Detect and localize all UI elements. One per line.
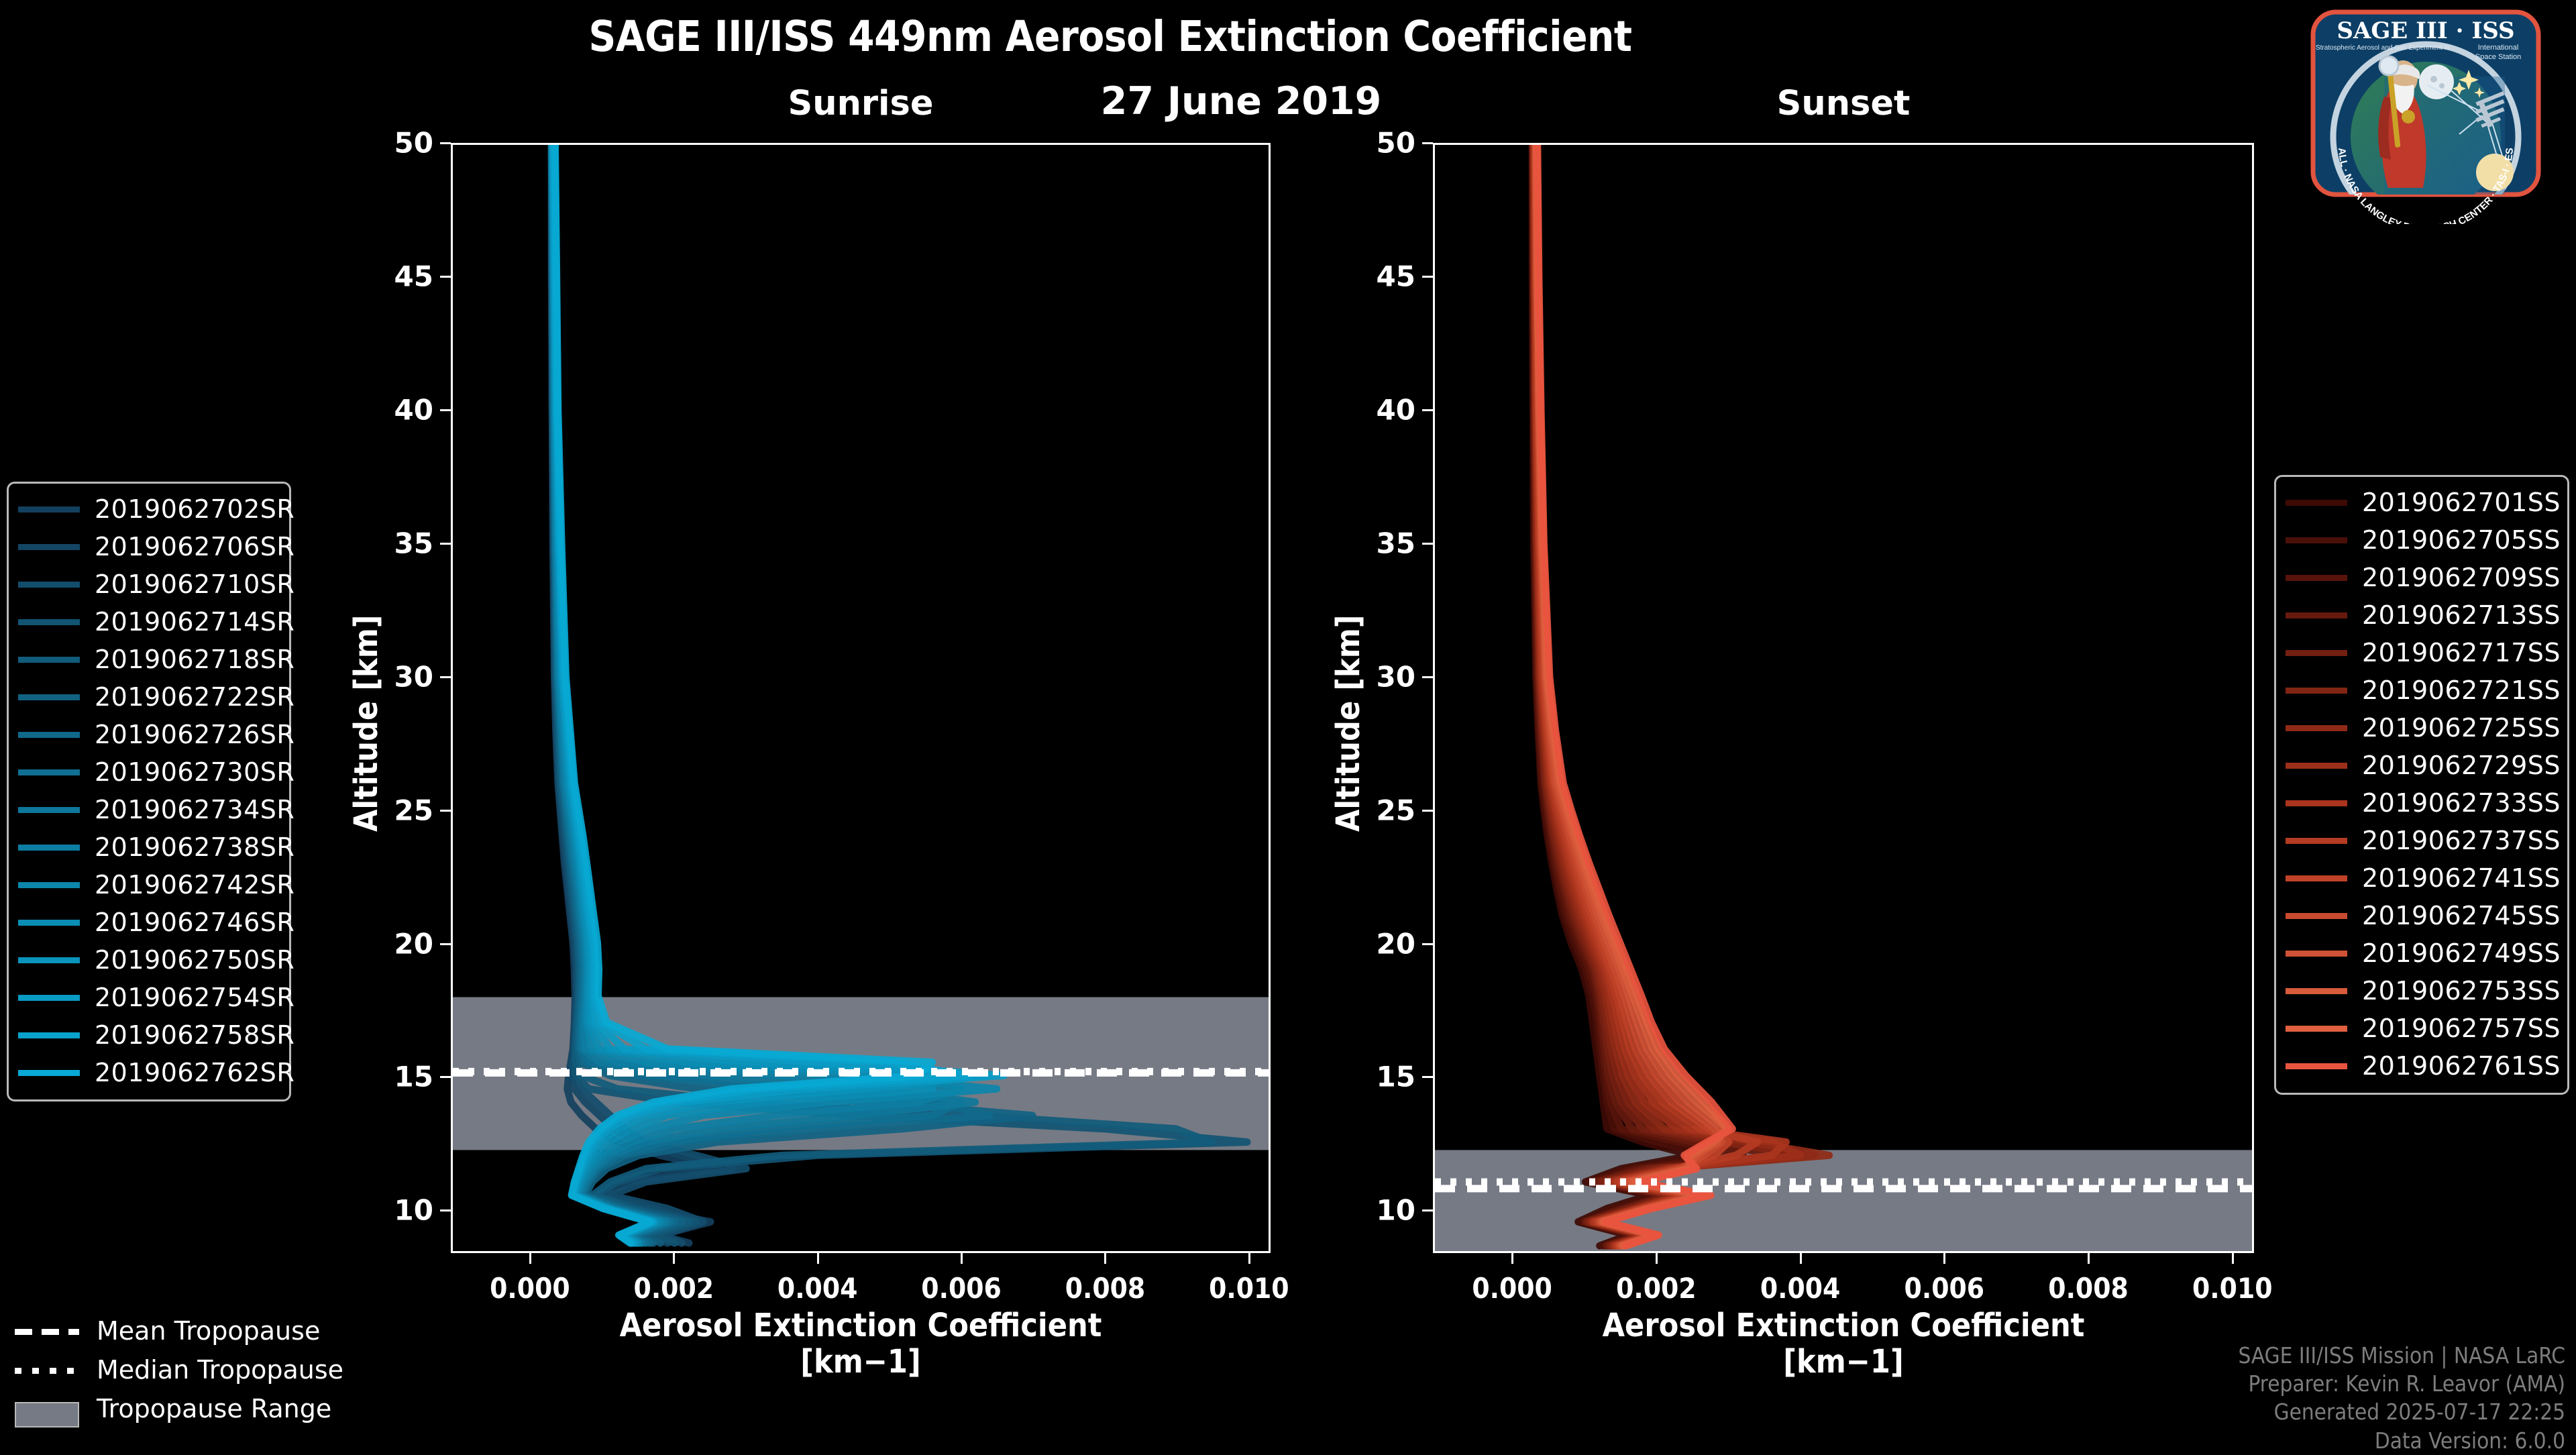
y-tick-label: 40 <box>370 393 451 426</box>
x-tick-mark <box>1656 1253 1658 1264</box>
y-tick-mark <box>440 409 451 411</box>
x-tick-label: 0.002 <box>634 1272 714 1305</box>
legend-item[interactable]: 2019062710SR <box>18 565 278 603</box>
legend-item[interactable]: 2019062729SS <box>2286 747 2557 784</box>
y-axis-title-sunset: Altitude [km] <box>1330 615 1367 832</box>
y-tick-label: 20 <box>1352 927 1433 960</box>
legend-color-swatch <box>18 995 80 1001</box>
x-tick-mark <box>1104 1253 1106 1264</box>
sage-iii-iss-mission-patch-logo: SAGE III · ISS Stratospheric Aerosol and… <box>2284 3 2568 224</box>
legend-item[interactable]: 2019062737SS <box>2286 822 2557 859</box>
legend-color-swatch <box>18 582 80 588</box>
tropopause-line-swatch <box>15 1329 79 1335</box>
y-tick-mark <box>1422 543 1433 545</box>
y-tick-label: 35 <box>370 527 451 559</box>
tropopause-legend-label: Mean Tropopause <box>97 1316 320 1346</box>
legend-item[interactable]: 2019062742SR <box>18 866 278 904</box>
legend-item-label: 2019062714SR <box>95 607 294 637</box>
legend-color-swatch <box>2286 1026 2347 1032</box>
legend-color-swatch <box>2286 988 2347 994</box>
legend-item[interactable]: 2019062717SS <box>2286 634 2557 671</box>
credits-line: Preparer: Kevin R. Leavor (AMA) <box>2238 1370 2565 1398</box>
y-tick-mark <box>1422 276 1433 278</box>
legend-item[interactable]: 2019062722SR <box>18 678 278 716</box>
legend-item[interactable]: 2019062750SR <box>18 941 278 979</box>
legend-item[interactable]: 2019062714SR <box>18 603 278 641</box>
x-tick-mark <box>2088 1253 2090 1264</box>
legend-tropopause: Mean TropopauseMedian TropopauseTropopau… <box>15 1311 343 1428</box>
legend-item-label: 2019062746SR <box>95 908 294 937</box>
y-tick-mark <box>440 543 451 545</box>
x-axis-title-sunset: Aerosol Extinction Coefficient [km−1] <box>1433 1308 2254 1381</box>
legend-item[interactable]: 2019062721SS <box>2286 671 2557 709</box>
y-tick-mark <box>1422 943 1433 945</box>
legend-item[interactable]: 2019062709SS <box>2286 559 2557 596</box>
legend-item-label: 2019062762SR <box>95 1058 294 1087</box>
legend-color-swatch <box>2286 688 2347 694</box>
credits-block: SAGE III/ISS Mission | NASA LaRCPreparer… <box>2238 1342 2565 1455</box>
legend-item-label: 2019062753SS <box>2362 976 2561 1006</box>
legend-item[interactable]: 2019062745SS <box>2286 897 2557 934</box>
legend-item-label: 2019062705SS <box>2362 525 2561 555</box>
tropopause-legend-item: Tropopause Range <box>15 1389 343 1428</box>
y-tick-mark <box>1422 142 1433 144</box>
legend-color-swatch <box>2286 725 2347 731</box>
legend-item-label: 2019062722SR <box>95 682 294 712</box>
y-tick-label: 45 <box>370 260 451 292</box>
x-tick-label: 0.002 <box>1616 1272 1697 1305</box>
legend-item[interactable]: 2019062762SR <box>18 1054 278 1091</box>
x-tick-mark <box>673 1253 675 1264</box>
legend-item-label: 2019062725SS <box>2362 713 2561 743</box>
legend-item[interactable]: 2019062701SS <box>2286 484 2557 521</box>
legend-item-label: 2019062761SS <box>2362 1051 2561 1081</box>
legend-item[interactable]: 2019062702SR <box>18 490 278 528</box>
legend-color-swatch <box>18 1032 80 1038</box>
tropopause-legend-item: Median Tropopause <box>15 1350 343 1389</box>
y-tick-label: 10 <box>1352 1194 1433 1227</box>
plot-panel-sunrise <box>451 143 1271 1253</box>
logo-subtitle-right-1: International <box>2478 44 2519 52</box>
tropopause-legend-key <box>15 1401 79 1417</box>
legend-color-swatch <box>2286 838 2347 844</box>
tropopause-range-swatch <box>15 1402 79 1427</box>
legend-item[interactable]: 2019062753SS <box>2286 972 2557 1010</box>
x-tick-mark <box>2232 1253 2234 1264</box>
tropopause-legend-label: Tropopause Range <box>97 1394 331 1423</box>
legend-item-label: 2019062713SS <box>2362 600 2561 630</box>
tropopause-legend-label: Median Tropopause <box>97 1355 343 1385</box>
legend-item-label: 2019062702SR <box>95 494 294 524</box>
plot-area-sunset <box>1435 145 2252 1251</box>
page-title: SAGE III/ISS 449nm Aerosol Extinction Co… <box>0 12 2220 61</box>
legend-color-swatch <box>2286 951 2347 957</box>
credits-line: SAGE III/ISS Mission | NASA LaRC <box>2238 1342 2565 1370</box>
panel-title-sunset: Sunset <box>1433 84 2254 123</box>
panel-title-sunrise: Sunrise <box>451 84 1271 123</box>
y-tick-label: 15 <box>370 1061 451 1093</box>
legend-item[interactable]: 2019062754SR <box>18 979 278 1016</box>
tropopause-legend-key <box>15 1362 79 1378</box>
plot-panel-sunset <box>1433 143 2254 1253</box>
legend-item[interactable]: 2019062738SR <box>18 828 278 866</box>
y-tick-label: 40 <box>1352 393 1433 426</box>
y-tick-mark <box>440 276 451 278</box>
legend-color-swatch <box>2286 650 2347 656</box>
y-tick-mark <box>440 1209 451 1211</box>
legend-color-swatch <box>18 544 80 550</box>
x-axis-title-line1: Aerosol Extinction Coefficient <box>451 1308 1271 1344</box>
x-tick-mark <box>1248 1253 1250 1264</box>
legend-item[interactable]: 2019062733SS <box>2286 784 2557 822</box>
tropopause-legend-key <box>15 1323 79 1339</box>
x-tick-label: 0.008 <box>1065 1272 1146 1305</box>
y-tick-mark <box>440 142 451 144</box>
legend-item-label: 2019062737SS <box>2362 826 2561 855</box>
x-tick-label: 0.010 <box>1209 1272 1289 1305</box>
legend-item-label: 2019062745SS <box>2362 901 2561 930</box>
legend-item-label: 2019062726SR <box>95 720 294 749</box>
legend-color-swatch <box>18 506 80 513</box>
legend-item[interactable]: 2019062725SS <box>2286 709 2557 747</box>
legend-color-swatch <box>18 1070 80 1076</box>
logo-subtitle-right-2: Space Station <box>2475 53 2522 61</box>
y-tick-mark <box>1422 409 1433 411</box>
y-tick-label: 35 <box>1352 527 1433 559</box>
legend-color-swatch <box>18 619 80 625</box>
legend-item-label: 2019062749SS <box>2362 938 2561 968</box>
legend-item[interactable]: 2019062746SR <box>18 904 278 941</box>
x-axis-title-line2: [km−1] <box>451 1344 1271 1381</box>
legend-color-swatch <box>2286 612 2347 618</box>
legend-item-label: 2019062701SS <box>2362 488 2561 517</box>
x-axis-sunset: 0.0000.0020.0040.0060.0080.010 <box>1433 1253 2254 1313</box>
y-tick-mark <box>440 676 451 678</box>
y-tick-label: 50 <box>1352 127 1433 160</box>
legend-item-label: 2019062733SS <box>2362 788 2561 818</box>
legend-item[interactable]: 2019062705SS <box>2286 521 2557 559</box>
y-tick-label: 45 <box>1352 260 1433 292</box>
legend-item-label: 2019062721SS <box>2362 676 2561 705</box>
x-tick-mark <box>1800 1253 1802 1264</box>
legend-item[interactable]: 2019062758SR <box>18 1016 278 1054</box>
legend-color-swatch <box>2286 500 2347 506</box>
legend-item-label: 2019062710SR <box>95 570 294 599</box>
legend-item[interactable]: 2019062761SS <box>2286 1047 2557 1085</box>
legend-color-swatch <box>18 657 80 663</box>
legend-color-swatch <box>18 732 80 738</box>
x-tick-label: 0.000 <box>1472 1272 1552 1305</box>
legend-item[interactable]: 2019062718SR <box>18 641 278 678</box>
credits-line: Generated 2025-07-17 22:25 <box>2238 1398 2565 1426</box>
x-tick-label: 0.008 <box>2048 1272 2129 1305</box>
legend-item[interactable]: 2019062730SR <box>18 753 278 791</box>
logo-title: SAGE III · ISS <box>2337 17 2514 44</box>
y-tick-mark <box>440 943 451 945</box>
credits-line: Data Version: 6.0.0 <box>2238 1427 2565 1455</box>
tropopause-range-band <box>1435 1150 2252 1251</box>
y-tick-mark <box>1422 1209 1433 1211</box>
plot-area-sunrise <box>453 145 1269 1251</box>
legend-color-swatch <box>18 694 80 700</box>
legend-color-swatch <box>2286 575 2347 581</box>
x-axis-title-sunrise: Aerosol Extinction Coefficient [km−1] <box>451 1308 1271 1381</box>
x-axis-title-line2: [km−1] <box>1433 1344 2254 1381</box>
legend-item-label: 2019062754SR <box>95 983 294 1012</box>
legend-item-label: 2019062718SR <box>95 645 294 674</box>
legend-item-label: 2019062730SR <box>95 757 294 787</box>
logo-subtitle-left: Stratospheric Aerosol and Gas Experiment… <box>2316 44 2450 52</box>
legend-color-swatch <box>2286 800 2347 806</box>
x-tick-label: 0.006 <box>1904 1272 1985 1305</box>
legend-item[interactable]: 2019062726SR <box>18 716 278 753</box>
y-axis-title-sunrise: Altitude [km] <box>347 615 385 832</box>
legend-item-label: 2019062742SR <box>95 870 294 900</box>
y-tick-label: 50 <box>370 127 451 160</box>
legend-item-label: 2019062758SR <box>95 1020 294 1050</box>
legend-item-label: 2019062706SR <box>95 532 294 561</box>
legend-sunrise[interactable]: 2019062702SR2019062706SR2019062710SR2019… <box>7 482 291 1101</box>
legend-item-label: 2019062734SR <box>95 795 294 824</box>
x-tick-mark <box>1511 1253 1513 1264</box>
legend-item[interactable]: 2019062713SS <box>2286 596 2557 634</box>
legend-item[interactable]: 2019062757SS <box>2286 1010 2557 1047</box>
y-tick-label: 10 <box>370 1194 451 1227</box>
legend-item-label: 2019062738SR <box>95 832 294 862</box>
legend-item-label: 2019062757SS <box>2362 1014 2561 1043</box>
x-axis-sunrise: 0.0000.0020.0040.0060.0080.010 <box>451 1253 1271 1313</box>
legend-item-label: 2019062717SS <box>2362 638 2561 667</box>
legend-color-swatch <box>2286 763 2347 769</box>
x-tick-label: 0.006 <box>921 1272 1002 1305</box>
x-axis-title-line1: Aerosol Extinction Coefficient <box>1433 1308 2254 1344</box>
y-tick-mark <box>440 810 451 812</box>
legend-item-label: 2019062750SR <box>95 945 294 975</box>
legend-color-swatch <box>18 920 80 926</box>
y-tick-mark <box>1422 810 1433 812</box>
x-tick-label: 0.010 <box>2192 1272 2273 1305</box>
legend-color-swatch <box>18 845 80 851</box>
x-tick-label: 0.004 <box>777 1272 858 1305</box>
data-series-line <box>1536 145 1758 1246</box>
y-tick-mark <box>1422 1076 1433 1078</box>
y-tick-mark <box>1422 676 1433 678</box>
legend-color-swatch <box>2286 913 2347 919</box>
x-tick-mark <box>817 1253 819 1264</box>
tropopause-legend-item: Mean Tropopause <box>15 1311 343 1350</box>
x-tick-mark <box>529 1253 531 1264</box>
x-tick-label: 0.004 <box>1760 1272 1841 1305</box>
legend-color-swatch <box>18 769 80 775</box>
legend-item[interactable]: 2019062749SS <box>2286 934 2557 972</box>
legend-color-swatch <box>18 957 80 963</box>
x-tick-mark <box>961 1253 963 1264</box>
legend-color-swatch <box>2286 875 2347 881</box>
legend-item[interactable]: 2019062734SR <box>18 791 278 828</box>
legend-color-swatch <box>18 807 80 813</box>
legend-item[interactable]: 2019062706SR <box>18 528 278 565</box>
y-tick-mark <box>440 1076 451 1078</box>
legend-color-swatch <box>2286 1063 2347 1069</box>
x-tick-mark <box>1943 1253 1945 1264</box>
y-tick-label: 20 <box>370 927 451 960</box>
legend-item[interactable]: 2019062741SS <box>2286 859 2557 897</box>
y-tick-label: 15 <box>1352 1061 1433 1093</box>
legend-item-label: 2019062709SS <box>2362 563 2561 592</box>
legend-sunset[interactable]: 2019062701SS2019062705SS2019062709SS2019… <box>2274 475 2569 1095</box>
legend-item-label: 2019062741SS <box>2362 863 2561 893</box>
legend-color-swatch <box>2286 537 2347 543</box>
legend-color-swatch <box>18 882 80 888</box>
legend-item-label: 2019062729SS <box>2362 751 2561 780</box>
x-tick-label: 0.000 <box>490 1272 570 1305</box>
tropopause-line-swatch <box>15 1368 79 1374</box>
